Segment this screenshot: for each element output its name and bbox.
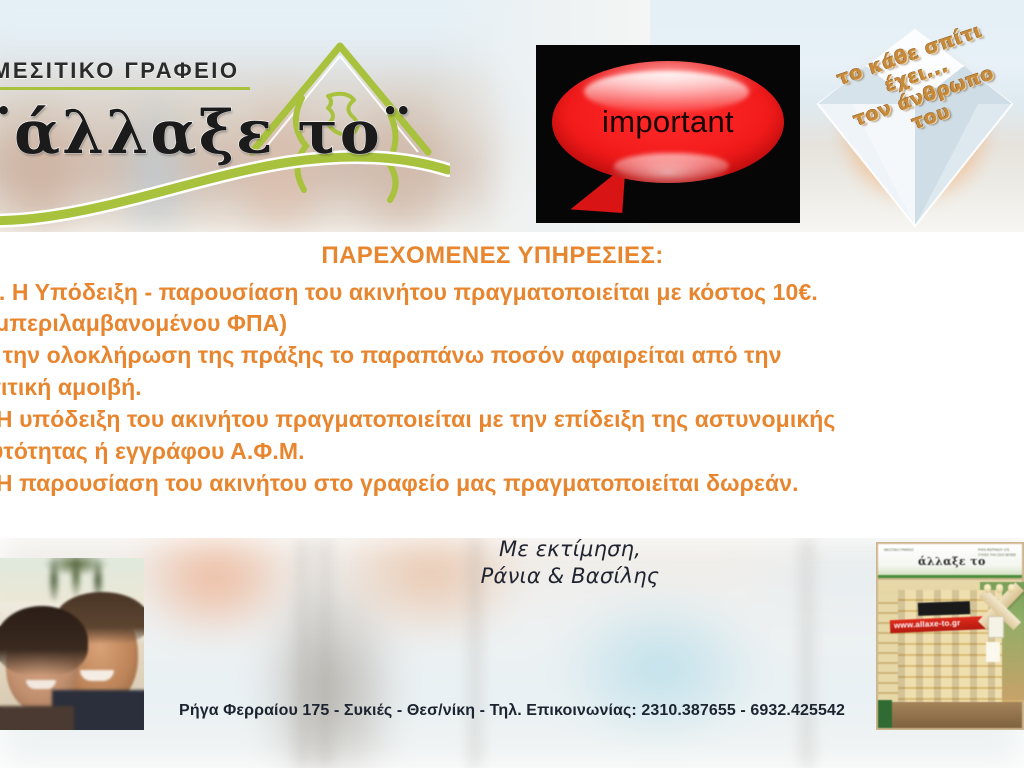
bottom-bg-stripe-4	[800, 538, 814, 768]
footer-contact: Ρήγα Φερραίου 175 - Συκιές - Θεσ/νίκη - …	[0, 702, 1024, 720]
service-line-4: μεσιτική αμοιβή.	[0, 376, 1024, 399]
service-line-2: (Συμπεριλαμβανομένου ΦΠΑ)	[0, 312, 1024, 335]
logo-wordmark: ¨άλλαξε το¨	[0, 98, 414, 168]
important-callout[interactable]: important	[536, 45, 800, 223]
signature-line-1: Με εκτίμηση,	[420, 536, 720, 563]
company-logo[interactable]: ΜΕΣΙΤΙΚΟ ΓΡΑΦΕΙΟ ¨άλλαξε το¨	[0, 40, 460, 220]
service-line-3: Με την ολοκλήρωση της πράξης το παραπάνω…	[0, 344, 1024, 367]
important-label: important	[552, 61, 784, 183]
services-body: 1. Η Υπόδειξη - παρουσίαση του ακινήτου …	[0, 281, 1024, 495]
bottom-bg-stripe-2	[318, 538, 332, 768]
logo-kicker-underline	[0, 87, 250, 90]
header-band: ΜΕΣΙΤΙΚΟ ΓΡΑΦΕΙΟ ¨άλλαξε το¨ important	[0, 0, 1024, 232]
service-line-5: 2. Η υπόδειξη του ακινήτου πραγματοποιεί…	[0, 408, 1024, 431]
service-line-7: 3. Η παρουσίαση του ακινήτου στο γραφείο…	[0, 472, 1024, 495]
speech-bubble-icon: important	[552, 61, 784, 183]
signature-block: Με εκτίμηση, Ράνια & Βασίλης	[420, 536, 720, 590]
diamond-badge[interactable]: το κάθε σπίτι έχει... τον άνθρωπο του	[812, 26, 1018, 230]
poster-canvas: ΜΕΣΙΤΙΚΟ ΓΡΑΦΕΙΟ ¨άλλαξε το¨ important	[0, 0, 1024, 768]
bottom-bg-stripe-1	[296, 538, 310, 768]
logo-kicker-text: ΜΕΣΙΤΙΚΟ ΓΡΑΦΕΙΟ	[0, 58, 240, 84]
signature-line-2: Ράνια & Βασίλης	[420, 563, 720, 590]
services-title: ΠΑΡΕΧΟΜΕΝΕΣ ΥΠΗΡΕΣΙΕΣ:	[0, 242, 985, 270]
service-line-1: 1. Η Υπόδειξη - παρουσίαση του ακινήτου …	[0, 281, 1024, 304]
service-line-6: ταυτότητας ή εγγράφου Α.Φ.Μ.	[0, 440, 1024, 463]
